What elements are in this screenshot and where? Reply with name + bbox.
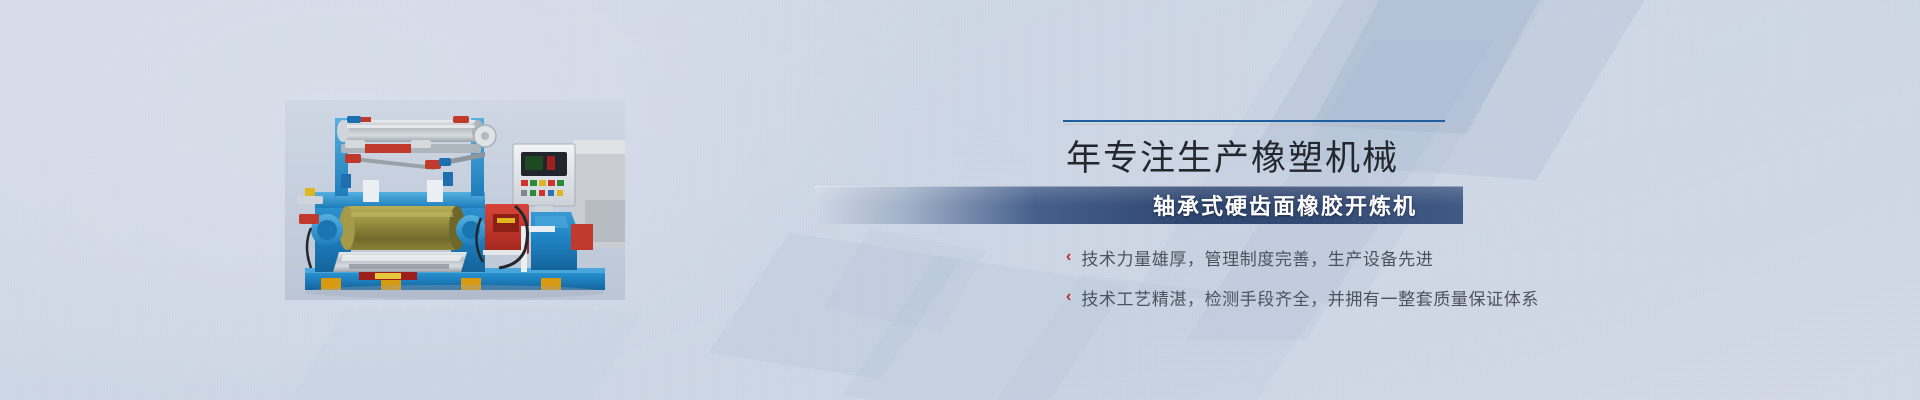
headline-divider (1063, 120, 1445, 125)
rubber-mixing-mill-illustration (285, 100, 625, 300)
decorative-shape-top-right-2 (1311, 0, 1558, 134)
chevron-left-icon: ‹ (1066, 249, 1071, 265)
decorative-shape-bottom-left (257, 310, 644, 400)
divider-line-soft (1063, 124, 1445, 125)
decorative-shape-bottom-center-3 (824, 229, 987, 332)
chevron-left-icon: ‹ (1066, 289, 1071, 305)
list-item: ‹ 技术力量雄厚，管理制度完善，生产设备先进 (1066, 245, 1686, 270)
feature-bullet-list: ‹ 技术力量雄厚，管理制度完善，生产设备先进 ‹ 技术工艺精湛，检测手段齐全，并… (1066, 245, 1686, 325)
banner-text-block: 年专注生产橡塑机械 轴承式硬齿面橡胶开炼机 ‹ 技术力量雄厚，管理制度完善，生产… (1060, 120, 1660, 181)
decorative-shape-bottom-center-1 (709, 233, 962, 380)
product-image (285, 100, 625, 300)
bullet-text: 技术力量雄厚，管理制度完善，生产设备先进 (1081, 245, 1433, 270)
page-title: 年专注生产橡塑机械 (1060, 137, 1660, 181)
subtitle-banner-bar: 轴承式硬齿面橡胶开炼机 (815, 186, 1463, 224)
list-item: ‹ 技术工艺精湛，检测手段齐全，并拥有一整套质量保证体系 (1066, 285, 1686, 310)
divider-line-blue (1063, 120, 1445, 122)
bullet-text: 技术工艺精湛，检测手段齐全，并拥有一整套质量保证体系 (1081, 285, 1539, 310)
promotional-banner: 年专注生产橡塑机械 轴承式硬齿面橡胶开炼机 ‹ 技术力量雄厚，管理制度完善，生产… (0, 0, 1920, 400)
subtitle-text: 轴承式硬齿面橡胶开炼机 (1153, 189, 1463, 221)
